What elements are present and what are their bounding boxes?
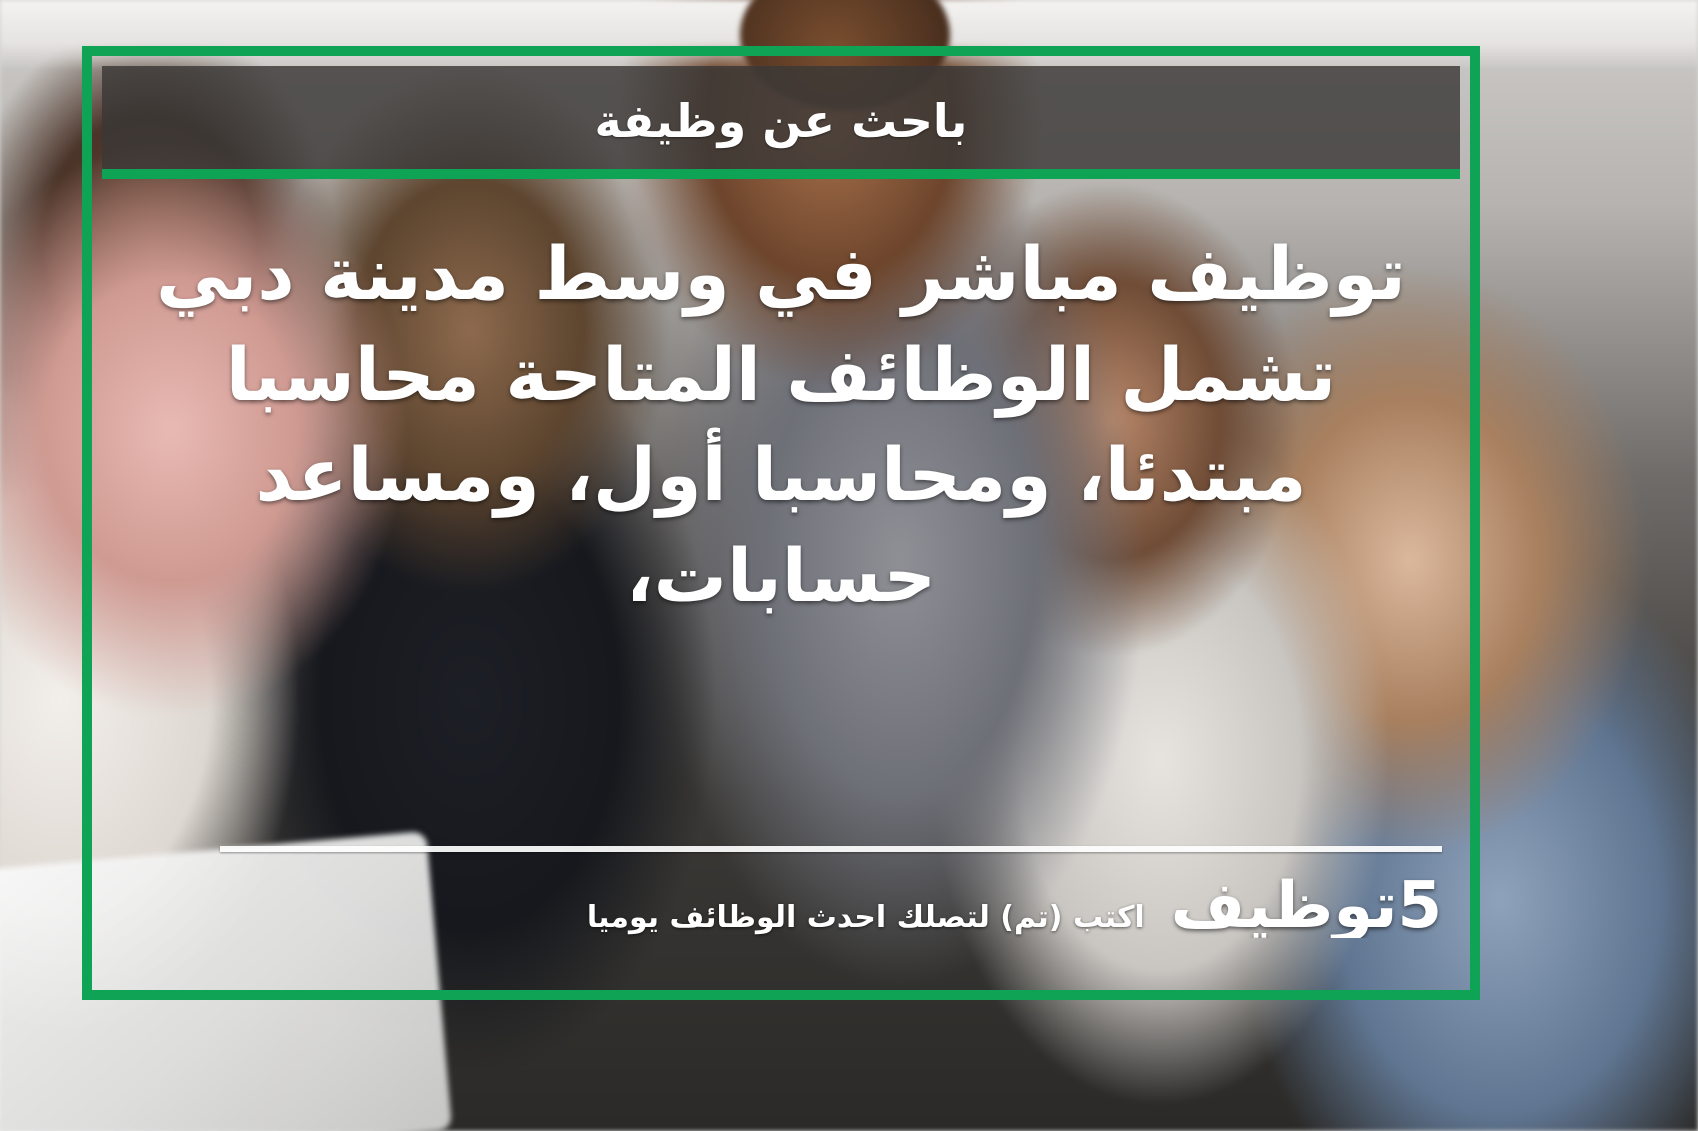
subscribe-note: اكتب (تم) لتصلك احدث الوظائف يوميا [587, 903, 1145, 933]
poster-card: باحث عن وظيفة توظيف مباشر في وسط مدينة د… [82, 46, 1480, 1000]
poster-stage: باحث عن وظيفة توظيف مباشر في وسط مدينة د… [0, 0, 1698, 1131]
header-divider [102, 169, 1460, 179]
card-footer: 5توظيف اكتب (تم) لتصلك احدث الوظائف يومي… [110, 846, 1442, 938]
card-body: توظيف مباشر في وسط مدينة دبي تشمل الوظائ… [102, 179, 1460, 980]
card-header-bar: باحث عن وظيفة [102, 66, 1460, 169]
footer-divider-line [220, 846, 1442, 852]
footer-row: 5توظيف اكتب (تم) لتصلك احدث الوظائف يومي… [110, 874, 1442, 938]
headline-text: توظيف مباشر في وسط مدينة دبي تشمل الوظائ… [120, 225, 1442, 628]
brand-label: 5توظيف [1171, 874, 1442, 938]
page-title: باحث عن وظيفة [595, 97, 968, 145]
